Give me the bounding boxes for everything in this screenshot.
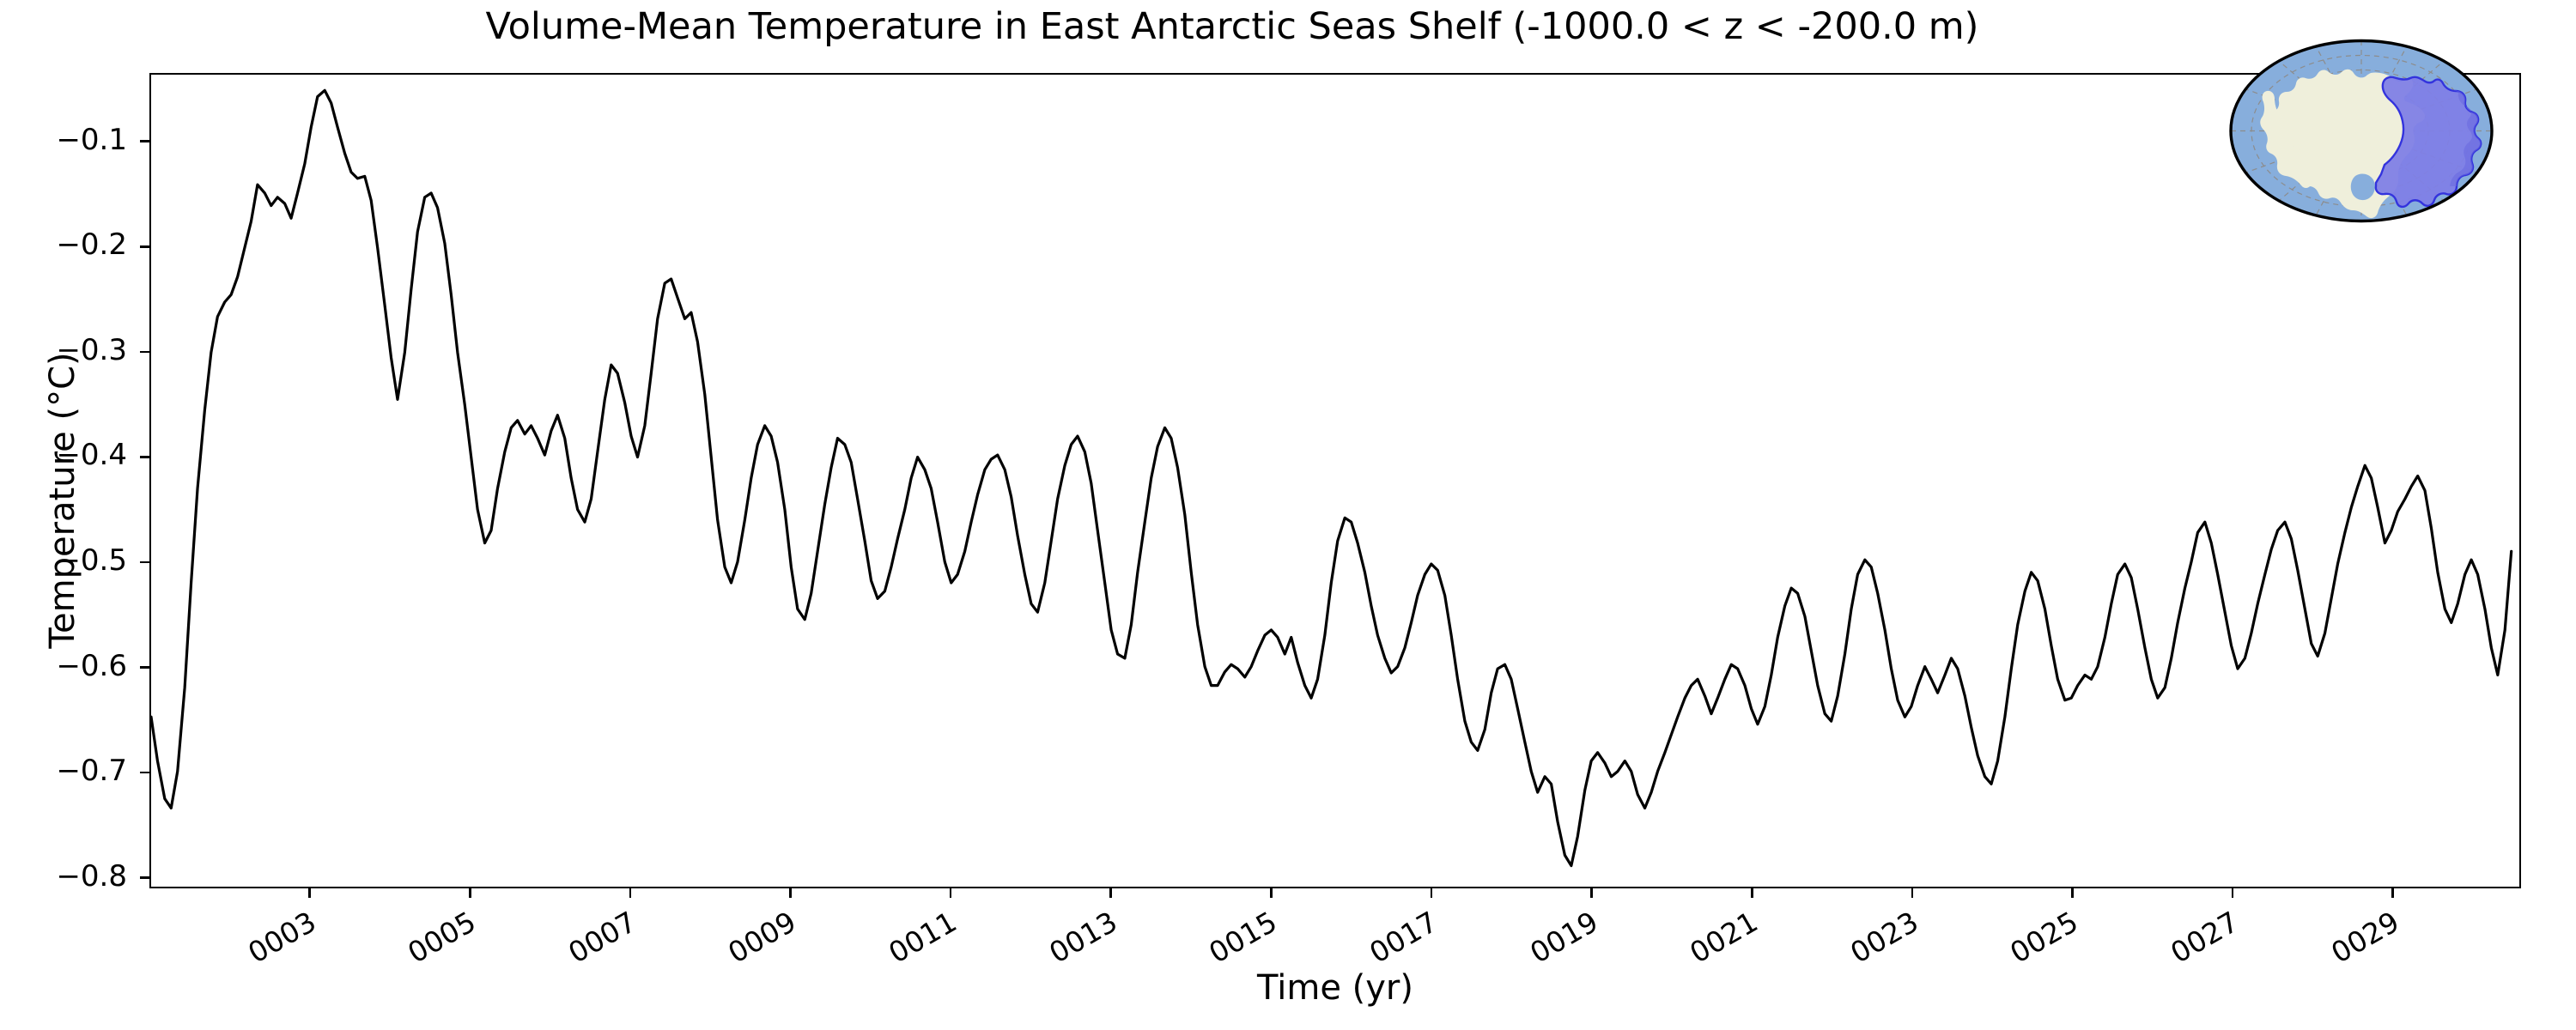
y-tick-mark	[140, 140, 149, 142]
y-tick-label: −0.8	[7, 859, 127, 894]
x-tick-mark	[2232, 888, 2234, 898]
x-tick-mark	[469, 888, 471, 898]
antarctica-inset-svg	[2228, 39, 2494, 223]
y-axis: −0.1−0.2−0.3−0.4−0.5−0.6−0.7−0.8	[0, 0, 2576, 1030]
y-tick-mark	[140, 245, 149, 248]
x-tick-mark	[308, 888, 311, 898]
x-tick-mark	[1270, 888, 1273, 898]
y-tick-mark	[140, 666, 149, 669]
figure-canvas: Volume-Mean Temperature in East Antarcti…	[0, 0, 2576, 1030]
x-axis-label: Time (yr)	[149, 968, 2521, 1008]
y-tick-mark	[140, 772, 149, 774]
x-tick-mark	[1911, 888, 1914, 898]
y-tick-label: −0.1	[7, 123, 127, 157]
y-axis-label: Temperature (°C)	[43, 260, 82, 741]
x-tick-mark	[1109, 888, 1112, 898]
x-tick-mark	[950, 888, 952, 898]
y-tick-mark	[140, 876, 149, 879]
x-tick-mark	[1751, 888, 1753, 898]
x-tick-mark	[789, 888, 792, 898]
x-tick-mark	[2071, 888, 2074, 898]
x-tick-mark	[2391, 888, 2394, 898]
x-tick-mark	[1590, 888, 1593, 898]
x-tick-mark	[629, 888, 632, 898]
antarctica-inset-map	[2228, 39, 2494, 223]
y-tick-label: −0.7	[7, 754, 127, 788]
x-tick-mark	[1431, 888, 1433, 898]
ross-embayment	[2351, 174, 2375, 201]
y-tick-mark	[140, 456, 149, 458]
y-tick-mark	[140, 561, 149, 564]
y-tick-label: −0.2	[7, 227, 127, 262]
y-tick-mark	[140, 351, 149, 354]
